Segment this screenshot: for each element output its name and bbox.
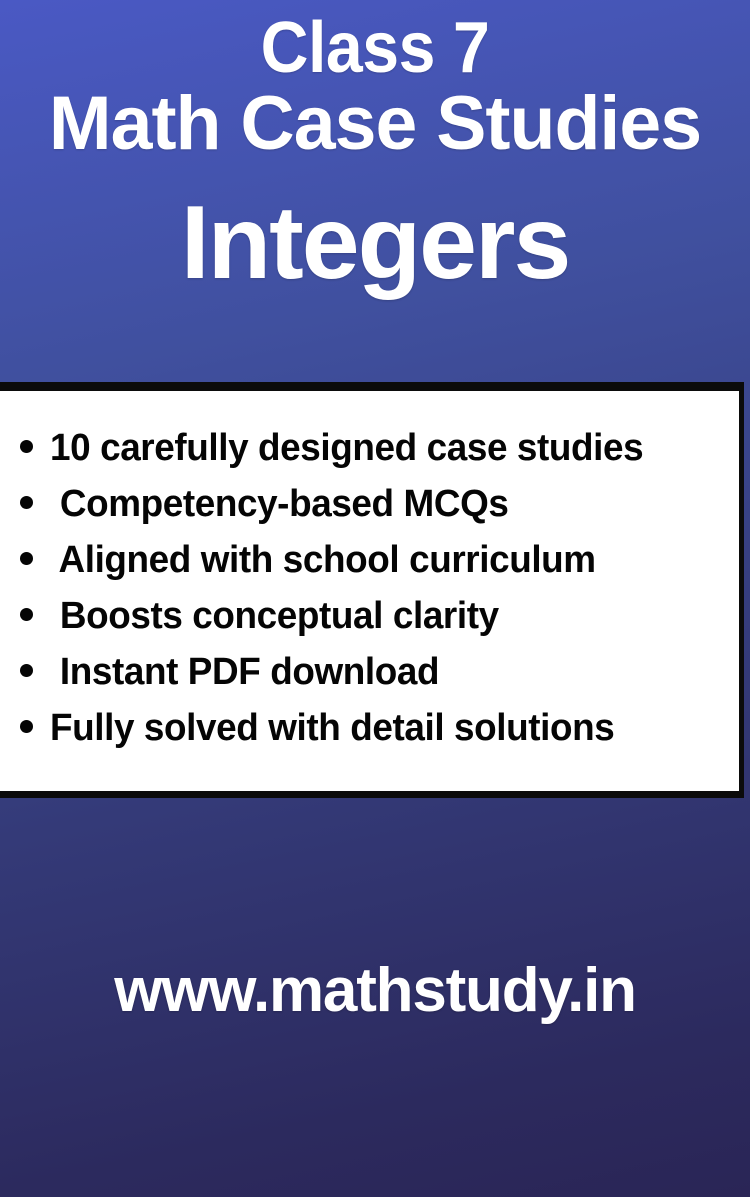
- poster-root: Class 7 Math Case Studies Integers 10 ca…: [0, 0, 750, 1197]
- bullet-dot-icon: [20, 608, 33, 621]
- list-item: Aligned with school curriculum: [20, 541, 739, 597]
- list-item: Instant PDF download: [20, 653, 739, 709]
- list-item-label: Competency-based MCQs: [50, 485, 508, 523]
- list-item-label: Instant PDF download: [50, 653, 439, 691]
- bullet-dot-icon: [20, 496, 33, 509]
- hero-subject-label: Math Case Studies: [4, 84, 747, 165]
- bullet-dot-icon: [20, 552, 33, 565]
- hero-class-label: Class 7: [30, 10, 720, 86]
- feature-list: 10 carefully designed case studies Compe…: [0, 391, 739, 765]
- list-item: 10 carefully designed case studies: [20, 429, 739, 485]
- bullet-dot-icon: [20, 664, 33, 677]
- feature-card: 10 carefully designed case studies Compe…: [0, 382, 744, 798]
- list-item: Fully solved with detail solutions: [20, 709, 739, 765]
- hero-section: Class 7 Math Case Studies Integers: [0, 0, 750, 382]
- bullet-dot-icon: [20, 440, 33, 453]
- list-item-label: Fully solved with detail solutions: [50, 709, 614, 747]
- site-url-label: www.mathstudy.in: [0, 955, 750, 1026]
- list-item-label: Boosts conceptual clarity: [50, 597, 499, 635]
- bullet-dot-icon: [20, 720, 33, 733]
- list-item: Competency-based MCQs: [20, 485, 739, 541]
- list-item-label: 10 carefully designed case studies: [50, 429, 643, 467]
- list-item-label: Aligned with school curriculum: [50, 541, 596, 579]
- list-item: Boosts conceptual clarity: [20, 597, 739, 653]
- hero-topic-label: Integers: [0, 187, 750, 299]
